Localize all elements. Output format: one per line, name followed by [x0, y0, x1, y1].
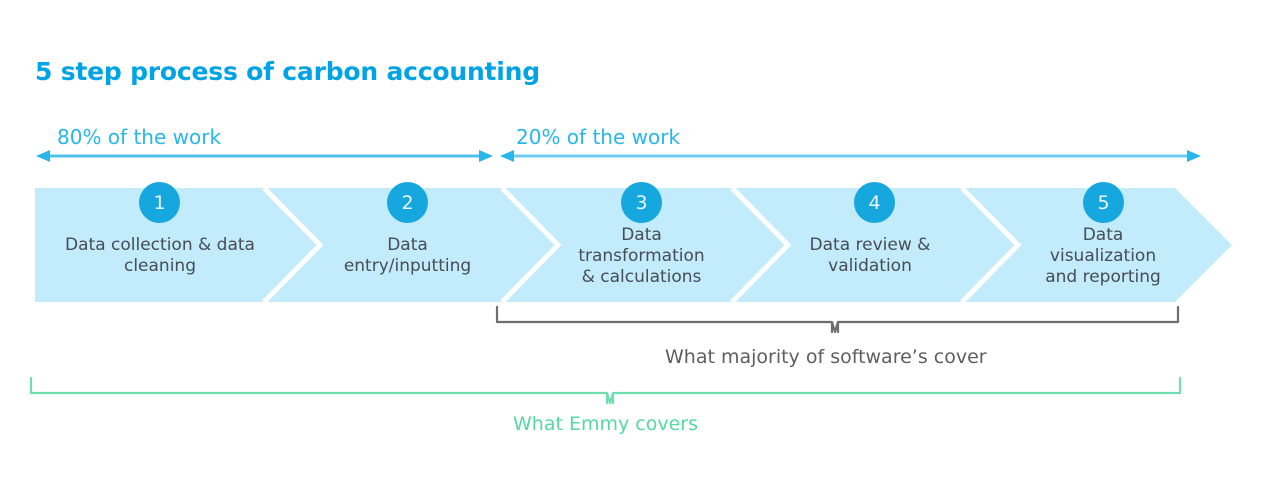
coverage-bracket-emmy [31, 378, 1180, 403]
step-badge-2: 2 [387, 182, 428, 223]
page-title: 5 step process of carbon accounting [35, 57, 540, 86]
effort-arrow-80 [36, 150, 493, 162]
coverage-caption-software: What majority of software’s cover [665, 346, 987, 368]
step-label-5: Data visualization and reporting [1008, 225, 1198, 288]
step-label-4: Data review & validation [775, 235, 965, 277]
step-badge-4: 4 [854, 182, 895, 223]
step-label-3: Data transformation & calculations [545, 225, 738, 288]
step-badge-1: 1 [139, 182, 180, 223]
coverage-bracket-software [497, 307, 1178, 332]
coverage-caption-emmy: What Emmy covers [513, 413, 698, 435]
step-badge-3: 3 [621, 182, 662, 223]
step-badge-5: 5 [1083, 182, 1124, 223]
step-label-2: Data entry/inputting [305, 235, 510, 277]
diagram-canvas: 5 step process of carbon accounting 80% … [0, 0, 1280, 498]
step-label-1: Data collection & data cleaning [40, 235, 280, 277]
effort-label-20: 20% of the work [516, 125, 680, 149]
effort-arrow-20 [500, 150, 1201, 162]
effort-label-80: 80% of the work [57, 125, 221, 149]
